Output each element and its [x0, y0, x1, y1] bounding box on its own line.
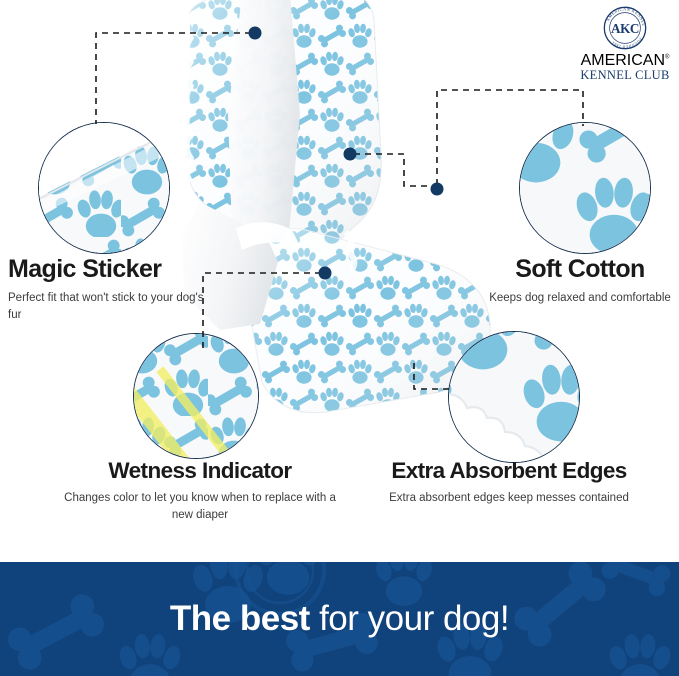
akc-name-line1: AMERICAN — [581, 52, 665, 69]
callout-circle-wetness-indicator — [133, 333, 259, 459]
feature-wetness-indicator: Wetness Indicator Changes color to let y… — [58, 458, 342, 523]
feature-title-wetness-indicator: Wetness Indicator — [58, 458, 342, 484]
akc-logo: AMERICAN KENNEL CLUB FOUNDED 1884 AKC AM… — [579, 6, 671, 83]
feature-description-soft-cotton: Keeps dog relaxed and comfortable — [482, 290, 678, 307]
feature-title-magic-sticker: Magic Sticker — [8, 255, 218, 284]
akc-seal-icon: AMERICAN KENNEL CLUB FOUNDED 1884 AKC — [603, 6, 647, 50]
feature-description-wetness-indicator: Changes color to let you know when to re… — [58, 490, 342, 523]
banner-headline: The best for your dog! — [0, 562, 679, 676]
feature-description-extra-absorbent-edges: Extra absorbent edges keep messes contai… — [343, 490, 675, 507]
feature-description-magic-sticker: Perfect fit that won't stick to your dog… — [8, 290, 208, 323]
registered-mark: ® — [665, 55, 669, 61]
bottom-banner: The best for your dog! — [0, 562, 679, 676]
svg-text:AKC: AKC — [611, 21, 639, 36]
feature-magic-sticker: Magic Sticker Perfect fit that won't sti… — [8, 255, 218, 323]
feature-title-extra-absorbent-edges: Extra Absorbent Edges — [343, 458, 675, 484]
callout-circle-extra-absorbent-edges — [448, 331, 580, 463]
banner-headline-regular: for your dog! — [310, 599, 509, 639]
akc-name-line2: KENNEL CLUB — [579, 69, 671, 83]
infographic-canvas: AMERICAN KENNEL CLUB FOUNDED 1884 AKC AM… — [0, 0, 679, 676]
akc-wordmark: AMERICAN® KENNEL CLUB — [579, 52, 671, 83]
callout-circle-magic-sticker — [38, 122, 170, 254]
feature-soft-cotton: Soft Cotton Keeps dog relaxed and comfor… — [482, 255, 678, 307]
banner-headline-bold: The best — [170, 599, 310, 639]
feature-extra-absorbent-edges: Extra Absorbent Edges Extra absorbent ed… — [343, 458, 675, 507]
callout-circle-soft-cotton — [519, 122, 651, 254]
feature-title-soft-cotton: Soft Cotton — [482, 255, 678, 284]
